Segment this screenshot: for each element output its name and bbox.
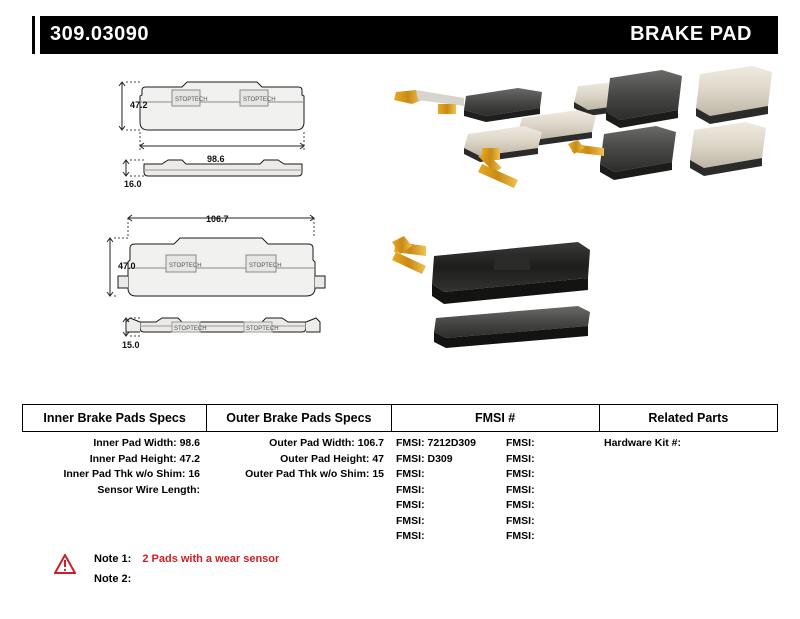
fmsi-right-value: FMSI: — [506, 452, 596, 468]
inner-pad-height-row: Inner Pad Height: 47.2 — [22, 452, 206, 468]
inner-pad-thickness-row: Inner Pad Thk w/o Shim: 16 — [22, 467, 206, 483]
header-inner-specs: Inner Brake Pads Specs — [22, 404, 206, 432]
technical-drawings: STOPTECH STOPTECH — [22, 60, 382, 390]
fmsi-right-value: FMSI: — [506, 529, 596, 545]
page-title: BRAKE PAD — [630, 23, 752, 46]
page-header: 309.03090 BRAKE PAD — [22, 16, 778, 54]
dim-outer-pad-height: 47.0 — [118, 261, 136, 271]
header-fmsi: FMSI # — [391, 404, 599, 432]
drawing-area: STOPTECH STOPTECH — [22, 60, 778, 390]
fmsi-column: FMSI: 7212D309 FMSI: FMSI: D309 FMSI: FM… — [390, 436, 598, 545]
warning-triangle-icon — [54, 554, 76, 574]
fmsi-row: FMSI: FMSI: — [390, 514, 598, 530]
sensor-wire-length-row: Sensor Wire Length: — [22, 483, 206, 499]
dim-outer-pad-width: 106.7 — [206, 214, 229, 224]
fmsi-right-value: FMSI: — [506, 498, 596, 514]
outer-specs-column: Outer Pad Width: 106.7 Outer Pad Height:… — [206, 436, 390, 545]
fmsi-left-value: FMSI: — [390, 483, 506, 499]
fmsi-right-value: FMSI: — [506, 483, 596, 499]
hardware-kit-row: Hardware Kit #: — [598, 436, 776, 452]
outer-pad-width-row: Outer Pad Width: 106.7 — [206, 436, 390, 452]
inner-specs-column: Inner Pad Width: 98.6 Inner Pad Height: … — [22, 436, 206, 545]
fmsi-row: FMSI: FMSI: — [390, 467, 598, 483]
dim-inner-pad-width: 98.6 — [207, 154, 225, 164]
notes-area: Note 1: 2 Pads with a wear sensor Note 2… — [22, 550, 778, 600]
pad-photos — [382, 60, 778, 390]
svg-text:STOPTECH: STOPTECH — [174, 326, 207, 332]
header-stripe-inner — [35, 16, 40, 54]
spec-table-body: Inner Pad Width: 98.6 Inner Pad Height: … — [22, 436, 778, 545]
outer-pad-height-row: Outer Pad Height: 47 — [206, 452, 390, 468]
inner-pad-width-row: Inner Pad Width: 98.6 — [22, 436, 206, 452]
fmsi-left-value: FMSI: — [390, 529, 506, 545]
fmsi-row: FMSI: D309 FMSI: — [390, 452, 598, 468]
fmsi-row: FMSI: 7212D309 FMSI: — [390, 436, 598, 452]
fmsi-left-value: FMSI: — [390, 514, 506, 530]
spec-table-header-row: Inner Brake Pads Specs Outer Brake Pads … — [22, 404, 778, 432]
fmsi-row: FMSI: FMSI: — [390, 529, 598, 545]
note-1-label: Note 1: — [94, 553, 131, 565]
fmsi-left-value: FMSI: 7212D309 — [390, 436, 506, 452]
fmsi-right-value: FMSI: — [506, 514, 596, 530]
header-outer-specs: Outer Brake Pads Specs — [206, 404, 390, 432]
outer-pad-thickness-row: Outer Pad Thk w/o Shim: 15 — [206, 467, 390, 483]
dim-inner-pad-height: 47.2 — [130, 100, 148, 110]
header-stripe-outer — [22, 16, 32, 54]
svg-text:STOPTECH: STOPTECH — [175, 97, 208, 103]
related-parts-column: Hardware Kit #: — [598, 436, 776, 545]
fmsi-row: FMSI: FMSI: — [390, 498, 598, 514]
svg-text:STOPTECH: STOPTECH — [243, 97, 276, 103]
note-2-label: Note 2: — [94, 573, 131, 585]
part-number: 309.03090 — [50, 23, 149, 46]
brake-pad-spec-sheet: 309.03090 BRAKE PAD STOPTECH STOPTECH — [0, 0, 800, 619]
fmsi-right-value: FMSI: — [506, 436, 596, 452]
fmsi-row: FMSI: FMSI: — [390, 483, 598, 499]
svg-text:STOPTECH: STOPTECH — [249, 263, 282, 269]
dim-outer-pad-thickness: 15.0 — [122, 340, 140, 350]
svg-text:STOPTECH: STOPTECH — [246, 326, 279, 332]
note-1: Note 1: 2 Pads with a wear sensor — [94, 553, 279, 565]
fmsi-left-value: FMSI: — [390, 467, 506, 483]
fmsi-left-value: FMSI: D309 — [390, 452, 506, 468]
fmsi-left-value: FMSI: — [390, 498, 506, 514]
note-2: Note 2: — [94, 573, 139, 585]
header-related-parts: Related Parts — [599, 404, 778, 432]
fmsi-right-value: FMSI: — [506, 467, 596, 483]
dim-inner-pad-thickness: 16.0 — [124, 179, 142, 189]
note-1-value: 2 Pads with a wear sensor — [142, 553, 279, 565]
spec-table: Inner Brake Pads Specs Outer Brake Pads … — [22, 404, 778, 545]
svg-text:STOPTECH: STOPTECH — [169, 263, 202, 269]
